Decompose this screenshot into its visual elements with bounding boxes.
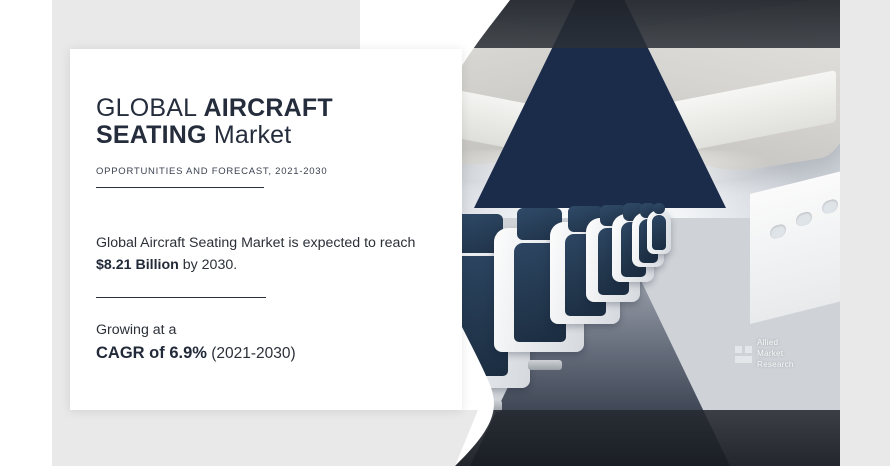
market-summary: Global Aircraft Seating Market is expect… (96, 232, 426, 277)
cabin-wall-right (750, 170, 840, 324)
title-divider (96, 187, 264, 188)
page-title: GLOBAL AIRCRAFT SEATING Market (96, 95, 396, 149)
cagr-block: Growing at aCAGR of 6.9% (2021-2030) (96, 319, 462, 367)
summary-tail: by 2030. (179, 257, 237, 273)
title-tail: Market (207, 121, 292, 149)
cagr-value: CAGR of 6.9% (96, 344, 207, 362)
title-lead: GLOBAL (96, 94, 203, 122)
summary-divider (96, 297, 266, 298)
window-icon (796, 211, 812, 228)
photo-top-overlay-band (360, 0, 840, 48)
cagr-lead: Growing at a (96, 322, 176, 338)
market-report-banner: GLOBAL AIRCRAFT SEATING Market OPPORTUNI… (0, 0, 890, 466)
market-value: $8.21 Billion (96, 257, 179, 273)
page-subtitle: OPPORTUNITIES AND FORECAST, 2021-2030 (96, 166, 462, 177)
cagr-period: (2021-2030) (207, 345, 296, 362)
armrest (528, 360, 562, 370)
window-icon (770, 223, 786, 240)
content-card: GLOBAL AIRCRAFT SEATING Market OPPORTUNI… (70, 49, 462, 410)
seat (647, 210, 671, 254)
photo-bottom-overlay-band (360, 410, 840, 466)
summary-lead: Global Aircraft Seating Market is expect… (96, 235, 415, 251)
window-icon (822, 198, 838, 215)
